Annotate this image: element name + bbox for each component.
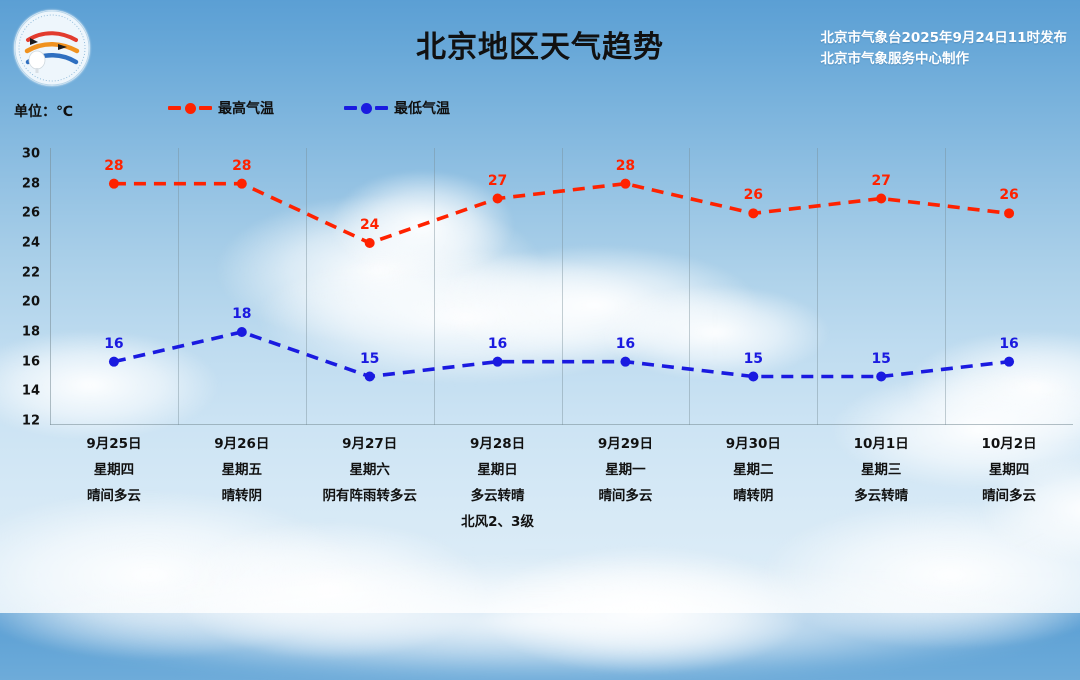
data-label-high-6: 27	[871, 173, 890, 189]
data-point-high-3[interactable]	[493, 194, 503, 204]
data-point-low-7[interactable]	[1004, 357, 1014, 367]
data-point-high-2[interactable]	[365, 238, 375, 248]
day-column-4[interactable]: 9月29日星期一晴间多云	[562, 431, 690, 541]
day-date-5: 9月30日	[689, 431, 817, 457]
data-label-high-4: 28	[616, 158, 635, 174]
day-weather-5: 晴转阴	[689, 483, 817, 509]
data-label-high-2: 24	[360, 217, 379, 233]
day-date-2: 9月27日	[306, 431, 434, 457]
data-label-low-7: 16	[999, 336, 1018, 352]
data-label-low-2: 15	[360, 351, 379, 367]
day-date-4: 9月29日	[562, 431, 690, 457]
day-wind-3: 北风2、3级	[434, 509, 562, 535]
data-point-low-2[interactable]	[365, 372, 375, 382]
data-point-high-1[interactable]	[237, 179, 247, 189]
day-column-7[interactable]: 10月2日星期四晴间多云	[945, 431, 1073, 541]
data-label-high-3: 27	[488, 173, 507, 189]
x-axis-day-columns: 9月25日星期四晴间多云9月26日星期五晴转阴9月27日星期六阴有阵雨转多云9月…	[50, 431, 1073, 541]
data-point-high-4[interactable]	[620, 179, 630, 189]
day-column-0[interactable]: 9月25日星期四晴间多云	[50, 431, 178, 541]
day-weather-4: 晴间多云	[562, 483, 690, 509]
day-weekday-5: 星期二	[689, 457, 817, 483]
data-point-low-0[interactable]	[109, 357, 119, 367]
data-point-low-1[interactable]	[237, 327, 247, 337]
data-point-low-4[interactable]	[620, 357, 630, 367]
day-weekday-4: 星期一	[562, 457, 690, 483]
day-date-7: 10月2日	[945, 431, 1073, 457]
data-label-high-5: 26	[744, 187, 763, 203]
data-point-high-7[interactable]	[1004, 208, 1014, 218]
data-point-low-5[interactable]	[748, 372, 758, 382]
data-label-low-1: 18	[232, 306, 251, 322]
data-point-high-5[interactable]	[748, 208, 758, 218]
day-column-1[interactable]: 9月26日星期五晴转阴	[178, 431, 306, 541]
day-weekday-1: 星期五	[178, 457, 306, 483]
day-weekday-6: 星期三	[817, 457, 945, 483]
data-label-high-1: 28	[232, 158, 251, 174]
data-label-low-4: 16	[616, 336, 635, 352]
day-weather-3: 多云转晴	[434, 483, 562, 509]
data-point-high-6[interactable]	[876, 194, 886, 204]
data-label-low-0: 16	[104, 336, 123, 352]
day-weather-6: 多云转晴	[817, 483, 945, 509]
data-point-low-6[interactable]	[876, 372, 886, 382]
data-label-high-0: 28	[104, 158, 123, 174]
data-label-low-6: 15	[871, 351, 890, 367]
day-weekday-3: 星期日	[434, 457, 562, 483]
day-column-2[interactable]: 9月27日星期六阴有阵雨转多云	[306, 431, 434, 541]
day-weather-1: 晴转阴	[178, 483, 306, 509]
day-date-1: 9月26日	[178, 431, 306, 457]
series-line-high	[114, 184, 1009, 243]
day-date-6: 10月1日	[817, 431, 945, 457]
day-column-3[interactable]: 9月28日星期日多云转晴北风2、3级	[434, 431, 562, 541]
data-point-low-3[interactable]	[493, 357, 503, 367]
data-point-high-0[interactable]	[109, 179, 119, 189]
data-label-low-3: 16	[488, 336, 507, 352]
day-weather-2: 阴有阵雨转多云	[306, 483, 434, 509]
data-label-low-5: 15	[744, 351, 763, 367]
day-weather-0: 晴间多云	[50, 483, 178, 509]
day-weekday-0: 星期四	[50, 457, 178, 483]
day-weekday-2: 星期六	[306, 457, 434, 483]
data-label-high-7: 26	[999, 187, 1018, 203]
day-date-3: 9月28日	[434, 431, 562, 457]
day-column-6[interactable]: 10月1日星期三多云转晴	[817, 431, 945, 541]
day-date-0: 9月25日	[50, 431, 178, 457]
day-weather-7: 晴间多云	[945, 483, 1073, 509]
day-column-5[interactable]: 9月30日星期二晴转阴	[689, 431, 817, 541]
day-weekday-7: 星期四	[945, 457, 1073, 483]
